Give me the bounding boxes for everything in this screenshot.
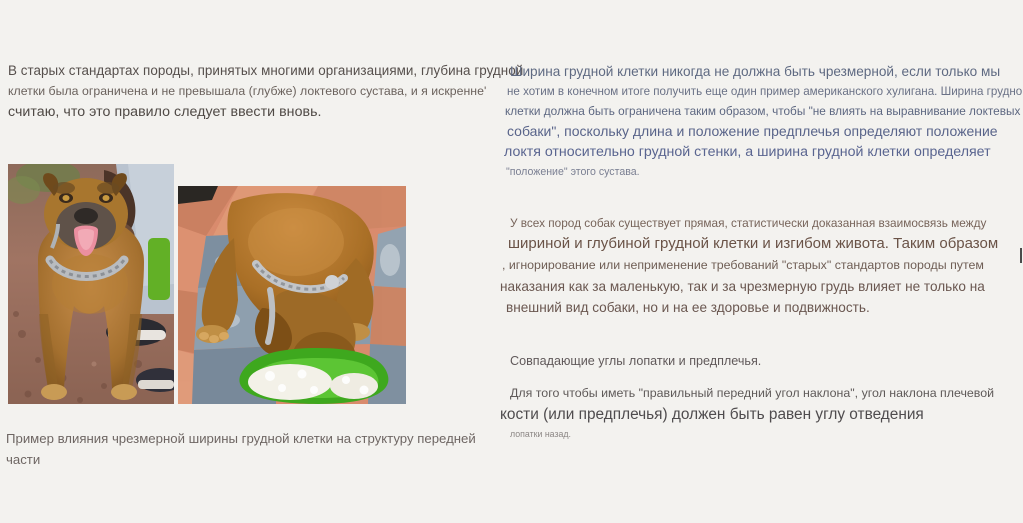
chest-width-line-5: локтя относительно грудной стенки, а шир… bbox=[500, 142, 1023, 163]
front-angle-line-2: кости (или предплечья) должен быть равен… bbox=[500, 403, 1023, 426]
right-column: Ширина грудной клетки никогда не должна … bbox=[500, 0, 1023, 523]
correlation-line-1: У всех пород собак существует прямая, ст… bbox=[500, 213, 1023, 233]
intro-line-1: В старых стандартах породы, принятых мно… bbox=[8, 60, 491, 81]
document-page: В старых стандартах породы, принятых мно… bbox=[0, 0, 1023, 523]
caption-line-2: части bbox=[6, 449, 496, 470]
correlation-line-5: внешний вид собаки, но и на ее здоровье … bbox=[500, 297, 1023, 318]
paragraph-correlation: У всех пород собак существует прямая, ст… bbox=[500, 213, 1023, 318]
chest-width-line-1: Ширина грудной клетки никогда не должна … bbox=[500, 62, 1023, 82]
front-angle-line-3: лопатки назад. bbox=[500, 426, 1023, 442]
chest-width-line-4: собаки", поскольку длина и положение пре… bbox=[500, 121, 1023, 142]
paragraph-chest-width: Ширина грудной клетки никогда не должна … bbox=[500, 62, 1023, 182]
paragraph-front-angle: Для того чтобы иметь "правильный передни… bbox=[500, 383, 1023, 442]
correlation-line-4: наказания как за маленькую, так и за чре… bbox=[500, 276, 1023, 297]
photo-bully-dog-front-image bbox=[8, 164, 174, 404]
photo-strip bbox=[8, 164, 408, 406]
correlation-line-3: , игнорирование или неприменение требова… bbox=[500, 255, 1023, 276]
photo-caption: Пример влияния чрезмерной ширины грудной… bbox=[6, 428, 496, 470]
matching-angles-line-1: Совпадающие углы лопатки и предплечья. bbox=[500, 351, 1023, 371]
chest-width-line-2: не хотим в конечном итоге получить еще о… bbox=[500, 82, 1023, 101]
intro-line-3: считаю, что это правило следует ввести в… bbox=[8, 102, 491, 123]
intro-paragraph: В старых стандартах породы, принятых мно… bbox=[8, 60, 491, 123]
chest-width-line-3: клетки должна быть ограничена таким обра… bbox=[500, 101, 1023, 121]
caption-line-1: Пример влияния чрезмерной ширины грудной… bbox=[6, 428, 496, 449]
correlation-line-2: шириной и глубиной грудной клетки и изги… bbox=[500, 233, 1023, 255]
photo-bully-dog-eating[interactable] bbox=[178, 186, 406, 404]
photo-bully-dog-eating-image bbox=[178, 186, 406, 404]
paragraph-matching-angles: Совпадающие углы лопатки и предплечья. bbox=[500, 351, 1023, 371]
left-column: В старых стандартах породы, принятых мно… bbox=[0, 0, 500, 523]
front-angle-line-1: Для того чтобы иметь "правильный передни… bbox=[500, 383, 1023, 403]
intro-line-2: клетки была ограничена и не превышала (г… bbox=[8, 81, 491, 102]
text-caret bbox=[1020, 248, 1022, 263]
photo-bully-dog-front[interactable] bbox=[8, 164, 174, 404]
chest-width-line-6: "положение" этого сустава. bbox=[500, 163, 1023, 182]
